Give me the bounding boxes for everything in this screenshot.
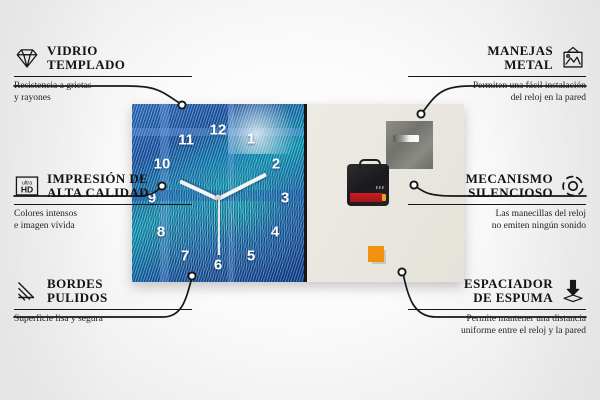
mechanism-label bbox=[376, 186, 385, 189]
clock-numeral-2: 2 bbox=[272, 157, 280, 172]
title-line-2: SILENCIOSO bbox=[466, 186, 553, 200]
mechanism-strap bbox=[359, 159, 381, 169]
battery-part bbox=[350, 193, 383, 202]
clock-numeral-4: 4 bbox=[271, 225, 279, 240]
clock-numeral-7: 7 bbox=[181, 249, 189, 264]
callout-header: ultra HD IMPRESIÓN DE ALTA CALIDAD bbox=[14, 172, 192, 200]
desc-line-2: del reloj en la pared bbox=[408, 93, 586, 105]
title-line-1: IMPRESIÓN DE bbox=[47, 172, 149, 186]
desc-line-2: uniforme entre el reloj y la pared bbox=[408, 326, 586, 338]
callout-header: ESPACIADOR DE ESPUMA bbox=[408, 277, 586, 305]
title-line-1: MECANISMO bbox=[466, 172, 553, 186]
callout-divider bbox=[408, 309, 586, 310]
quartz-mechanism-part bbox=[347, 164, 389, 206]
callout-header: VIDRIO TEMPLADO bbox=[14, 44, 192, 72]
title-line-2: TEMPLADO bbox=[47, 58, 125, 72]
desc-line-2: y rayones bbox=[14, 93, 192, 105]
clock-numeral-10: 10 bbox=[154, 157, 171, 172]
face-highlight bbox=[228, 104, 298, 154]
title-line-1: MANEJAS bbox=[487, 44, 553, 58]
callout-title: VIDRIO TEMPLADO bbox=[47, 44, 125, 72]
clock-center-hub bbox=[216, 195, 221, 200]
callout-divider bbox=[14, 204, 192, 205]
desc-line-1: Superficie lisa y segura bbox=[14, 314, 192, 326]
desc-line-2: no emiten ningún sonido bbox=[408, 221, 586, 233]
title-line-2: ALTA CALIDAD bbox=[47, 186, 149, 200]
callout-title: MECANISMO SILENCIOSO bbox=[466, 172, 553, 200]
desc-line-1: Resistencia a grietas bbox=[14, 81, 192, 93]
clock-numeral-6: 6 bbox=[214, 258, 222, 273]
callout-manejas-metal: MANEJAS METAL Permiten una fácil instala… bbox=[408, 44, 586, 104]
clock-second-hand bbox=[218, 197, 220, 255]
polished-edges-icon bbox=[14, 278, 40, 304]
foam-spacer-arrow-icon bbox=[560, 278, 586, 304]
metal-hanger-part bbox=[386, 121, 433, 169]
callout-header: MANEJAS METAL bbox=[408, 44, 586, 72]
foam-spacer-part bbox=[368, 246, 384, 262]
callout-title: BORDES PULIDOS bbox=[47, 277, 108, 305]
callout-impresion-alta-calidad: ultra HD IMPRESIÓN DE ALTA CALIDAD Color… bbox=[14, 172, 192, 232]
title-line-2: DE ESPUMA bbox=[464, 291, 553, 305]
callout-title: MANEJAS METAL bbox=[487, 44, 553, 72]
callout-espaciador-espuma: ESPACIADOR DE ESPUMA Permite mantener un… bbox=[408, 277, 586, 337]
callout-divider bbox=[14, 309, 192, 310]
callout-title: ESPACIADOR DE ESPUMA bbox=[464, 277, 553, 305]
ultra-hd-icon-bottom: HD bbox=[21, 185, 33, 195]
gear-icon bbox=[560, 173, 586, 199]
title-line-1: ESPACIADOR bbox=[464, 277, 553, 291]
callout-description: Resistencia a grietas y rayones bbox=[14, 81, 192, 104]
clock-numeral-3: 3 bbox=[281, 191, 289, 206]
clock-numeral-5: 5 bbox=[247, 249, 255, 264]
desc-line-2: e imagen vívida bbox=[14, 221, 192, 233]
callout-description: Superficie lisa y segura bbox=[14, 314, 192, 326]
callout-bordes-pulidos: BORDES PULIDOS Superficie lisa y segura bbox=[14, 277, 192, 326]
callout-header: BORDES PULIDOS bbox=[14, 277, 192, 305]
callout-divider bbox=[408, 76, 586, 77]
desc-line-1: Las manecillas del reloj bbox=[408, 209, 586, 221]
desc-line-1: Permiten una fácil instalación bbox=[408, 81, 586, 93]
title-line-1: BORDES bbox=[47, 277, 108, 291]
callout-description: Las manecillas del reloj no emiten ningú… bbox=[408, 209, 586, 232]
diamond-icon bbox=[14, 45, 40, 71]
callout-description: Permiten una fácil instalación del reloj… bbox=[408, 81, 586, 104]
ultra-hd-icon: ultra HD bbox=[14, 173, 40, 199]
picture-frame-hanger-icon bbox=[560, 45, 586, 71]
title-line-1: VIDRIO bbox=[47, 44, 125, 58]
callout-mecanismo-silencioso: MECANISMO SILENCIOSO Las manecillas del … bbox=[408, 172, 586, 232]
callout-header: MECANISMO SILENCIOSO bbox=[408, 172, 586, 200]
callout-vidrio-templado: VIDRIO TEMPLADO Resistencia a grietas y … bbox=[14, 44, 192, 104]
infographic-canvas: 12 1 2 3 4 5 6 7 8 9 10 11 bbox=[0, 0, 600, 400]
callout-description: Colores intensos e imagen vívida bbox=[14, 209, 192, 232]
callout-divider bbox=[408, 204, 586, 205]
callout-description: Permite mantener una distancia uniforme … bbox=[408, 314, 586, 337]
desc-line-1: Permite mantener una distancia bbox=[408, 314, 586, 326]
title-line-2: METAL bbox=[487, 58, 553, 72]
callout-title: IMPRESIÓN DE ALTA CALIDAD bbox=[47, 172, 149, 200]
clock-numeral-11: 11 bbox=[178, 133, 194, 148]
callout-divider bbox=[14, 76, 192, 77]
clock-numeral-1: 1 bbox=[247, 132, 255, 147]
clock-numeral-12: 12 bbox=[210, 123, 227, 138]
title-line-2: PULIDOS bbox=[47, 291, 108, 305]
desc-line-1: Colores intensos bbox=[14, 209, 192, 221]
